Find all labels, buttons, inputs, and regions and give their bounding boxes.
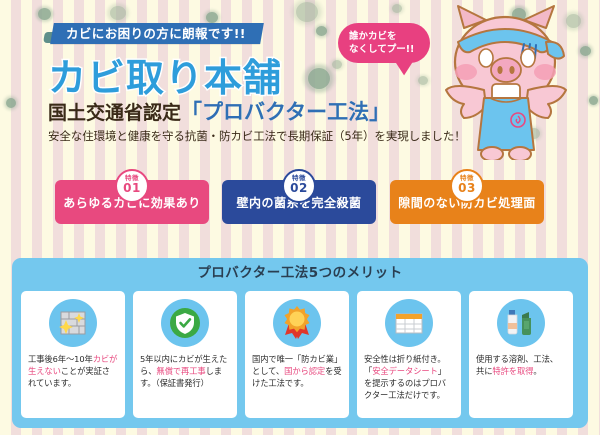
mold-blob-icon bbox=[589, 96, 598, 105]
feature-badge-number: 02 bbox=[284, 182, 314, 195]
merits-panel: プロバクター工法5つのメリット 工事後6年〜10年カビが生えないことが実証されて… bbox=[12, 258, 588, 428]
mold-blob-icon bbox=[296, 2, 318, 22]
mold-blob-icon bbox=[6, 98, 16, 108]
merit-card-text: 安全性は折り紙付き。「安全データシート」を提示するのはプロバクター工法だけです。 bbox=[364, 353, 454, 401]
feature-badge-03: 特徴 03 bbox=[450, 169, 484, 203]
mold-blob-icon bbox=[316, 26, 327, 36]
page-title: カビ取り本舗 bbox=[48, 47, 282, 102]
mold-blob-icon bbox=[332, 60, 342, 69]
feature-box-02[interactable]: 特徴 02 壁内の菌糸を完全殺菌 bbox=[222, 180, 376, 224]
sub-title-certification: 国土交通省認定 bbox=[48, 102, 181, 124]
feature-badge-02: 特徴 02 bbox=[282, 169, 316, 203]
sub-title-method: 「プロバクター工法」 bbox=[181, 100, 390, 124]
mold-blob-icon bbox=[206, 12, 218, 23]
merit-text-part: 。 bbox=[533, 366, 541, 376]
merit-card[interactable]: 国内で唯一「防カビ業」として、国から認定を受けた工法です。 bbox=[245, 291, 349, 418]
feature-badge-01: 特徴 01 bbox=[115, 169, 149, 203]
merit-card-text: 国内で唯一「防カビ業」として、国から認定を受けた工法です。 bbox=[252, 353, 342, 389]
merit-text-highlight: 国から認定 bbox=[284, 366, 325, 376]
merits-title: プロバクター工法5つのメリット bbox=[12, 258, 588, 288]
merit-card-list: 工事後6年〜10年カビが生えないことが実証されています。 5年以内にカビが生えた… bbox=[21, 291, 579, 418]
mold-blob-icon bbox=[308, 68, 330, 89]
feature-box-list: 特徴 01 あらゆるカビに効果あり 特徴 02 壁内の菌糸を完全殺菌 特徴 03… bbox=[0, 168, 600, 236]
merit-text-highlight: 安全データシート bbox=[372, 366, 438, 376]
pig-mascot-icon bbox=[428, 2, 588, 160]
brick-wall-sparkle-icon bbox=[49, 299, 97, 347]
spray-bottle-icon bbox=[497, 299, 545, 347]
merit-card[interactable]: 安全性は折り紙付き。「安全データシート」を提示するのはプロバクター工法だけです。 bbox=[357, 291, 461, 418]
mascot-speech-bubble: 誰かカビを なくしてプー!! bbox=[338, 23, 430, 63]
merit-card-text: 使用する溶剤、工法、共に特許を取得。 bbox=[476, 353, 566, 377]
mold-blob-icon bbox=[110, 6, 126, 20]
merit-text-part: 工事後6年〜10年 bbox=[28, 354, 93, 364]
document-table-icon bbox=[385, 299, 433, 347]
lead-copy: 安全な住環境と健康を守る抗菌・防カビ工法で長期保証（5年）を実現しました！ bbox=[48, 128, 466, 144]
feature-box-01[interactable]: 特徴 01 あらゆるカビに効果あり bbox=[55, 180, 209, 224]
merit-text-highlight: 無償で再工事 bbox=[156, 366, 205, 376]
landing-page: カビにお困りの方に朗報です!! カビ取り本舗 国土交通省認定「プロバクター工法」… bbox=[0, 0, 600, 435]
merit-card[interactable]: 工事後6年〜10年カビが生えないことが実証されています。 bbox=[21, 291, 125, 418]
speech-line-2: なくしてプー!! bbox=[349, 43, 430, 56]
mold-blob-icon bbox=[418, 76, 428, 85]
merit-card-text: 5年以内にカビが生えたら、無償で再工事します。（保証書発行） bbox=[140, 353, 230, 389]
mold-blob-icon bbox=[392, 4, 402, 13]
header-ribbon-text: カビにお困りの方に朗報です!! bbox=[66, 23, 246, 44]
award-medal-icon bbox=[273, 299, 321, 347]
feature-box-03[interactable]: 特徴 03 隙間のない防カビ処理面 bbox=[390, 180, 544, 224]
header-ribbon-banner: カビにお困りの方に朗報です!! bbox=[50, 23, 264, 44]
mold-blob-icon bbox=[38, 8, 51, 20]
merit-text-highlight: 特許を取得 bbox=[492, 366, 533, 376]
sub-title: 国土交通省認定「プロバクター工法」 bbox=[48, 96, 390, 126]
merit-card[interactable]: 5年以内にカビが生えたら、無償で再工事します。（保証書発行） bbox=[133, 291, 237, 418]
feature-badge-number: 03 bbox=[452, 182, 482, 195]
merit-card[interactable]: 使用する溶剤、工法、共に特許を取得。 bbox=[469, 291, 573, 418]
merit-card-text: 工事後6年〜10年カビが生えないことが実証されています。 bbox=[28, 353, 118, 389]
speech-line-1: 誰かカビを bbox=[349, 30, 430, 43]
shield-check-icon bbox=[161, 299, 209, 347]
feature-badge-number: 01 bbox=[117, 182, 147, 195]
